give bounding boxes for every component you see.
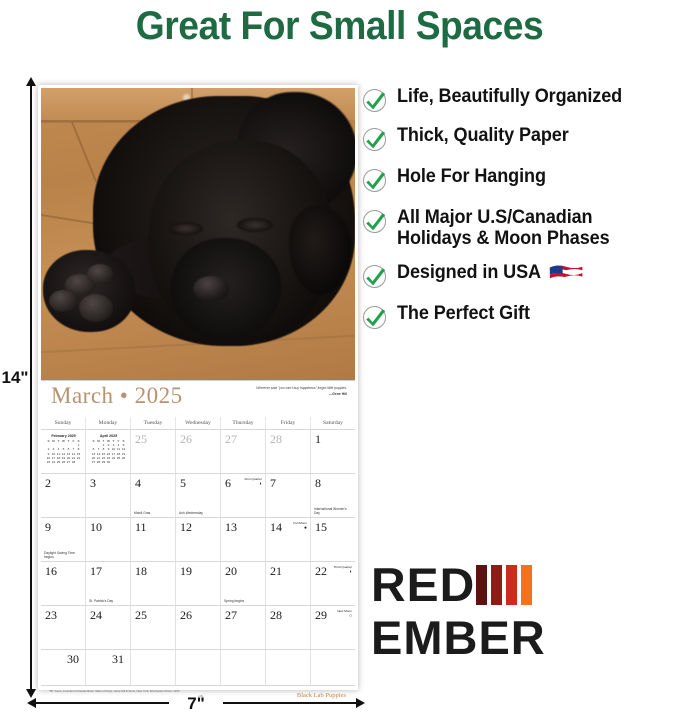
weekday-header: Saturday <box>311 417 355 429</box>
day-number: 16 <box>45 564 57 579</box>
moon-phase-icon: New Moon○ <box>337 609 352 619</box>
calendar-week-row: February 2025SMTWTFS12345678910111213141… <box>41 430 355 474</box>
day-event-label: International Women's Day <box>314 507 353 515</box>
moon-phase-icon: Third Quarter◖ <box>334 565 352 575</box>
calendar-day-cell[interactable] <box>266 650 311 685</box>
day-number: 24 <box>90 608 102 623</box>
check-circle-icon <box>362 167 388 193</box>
calendar-day-cell[interactable]: 20Spring begins <box>221 562 266 605</box>
day-number: 5 <box>180 476 186 491</box>
feature-item: Designed in USA <box>362 262 679 289</box>
calendar-day-cell[interactable]: 27 <box>221 430 266 473</box>
moon-phase-glyph: ○ <box>337 614 352 619</box>
calendar-day-cell[interactable]: 31 <box>86 650 131 685</box>
mini-month: February 2025SMTWTFS12345678910111213141… <box>46 434 81 464</box>
day-number: 21 <box>270 564 282 579</box>
calendar-day-cell[interactable]: April 2025SMTWTFS12345678910111213141516… <box>86 430 131 473</box>
calendar-grid-page: March • 2025 Whoever said "you can't buy… <box>41 380 355 687</box>
calendar-day-cell[interactable]: February 2025SMTWTFS12345678910111213141… <box>41 430 86 473</box>
day-number: 20 <box>225 564 237 579</box>
calendar-day-cell[interactable]: 5Ash Wednesday <box>176 474 221 517</box>
calendar-week-row: 23242526272829New Moon○ <box>41 606 355 650</box>
calendar-month-title: March • 2025 <box>51 383 183 409</box>
logo-line-one: RED <box>371 562 601 608</box>
day-number: 8 <box>315 476 321 491</box>
calendar-day-cell[interactable]: 22Third Quarter◖ <box>311 562 355 605</box>
calendar-day-cell[interactable]: 18 <box>131 562 176 605</box>
calendar-day-cell[interactable]: 4Mardi Gras <box>131 474 176 517</box>
calendar-day-cell[interactable]: 11 <box>131 518 176 561</box>
feature-label: All Major U.S/Canadian Holidays & Moon P… <box>397 207 665 250</box>
calendar-day-cell[interactable]: 12 <box>176 518 221 561</box>
day-number: 7 <box>270 476 276 491</box>
check-circle-icon <box>362 208 388 234</box>
logo-line-two: EMBER <box>371 613 601 663</box>
mini-month: April 2025SMTWTFS12345678910111213141516… <box>91 434 126 464</box>
red-ember-logo: RED EMBER <box>371 562 601 663</box>
day-number: 12 <box>180 520 192 535</box>
puppy-eye-right <box>237 218 273 232</box>
day-number: 14 <box>270 520 282 535</box>
day-number: 3 <box>90 476 96 491</box>
day-number: 22 <box>315 564 327 579</box>
day-number: 27 <box>225 608 237 623</box>
feature-label: Designed in USA <box>397 262 583 284</box>
quote-author: —Gene Hill <box>197 392 347 397</box>
weekday-header: Tuesday <box>131 417 176 429</box>
logo-ember-bars <box>476 565 536 605</box>
calendar-week-row: 9Daylight Saving Time begins1011121314Fu… <box>41 518 355 562</box>
calendar-product: March • 2025 Whoever said "you can't buy… <box>38 85 358 690</box>
calendar-day-cell[interactable]: 30 <box>41 650 86 685</box>
moon-phase-glyph: ◖ <box>334 570 352 575</box>
day-number: 25 <box>135 608 147 623</box>
weekday-header: Wednesday <box>176 417 221 429</box>
calendar-photo <box>41 88 355 380</box>
feature-label: The Perfect Gift <box>397 303 530 324</box>
weekday-header: Thursday <box>221 417 266 429</box>
floor-plank-line <box>41 122 141 123</box>
day-number: 27 <box>225 432 237 447</box>
day-number: 2 <box>45 476 51 491</box>
puppy-nose <box>193 276 229 301</box>
day-number: 6 <box>225 476 231 491</box>
day-number: 17 <box>90 564 102 579</box>
calendar-quote: Whoever said "you can't buy happiness" f… <box>197 386 347 397</box>
calendar-day-cell[interactable]: 26 <box>176 606 221 649</box>
day-number: 29 <box>315 608 327 623</box>
day-number: 28 <box>270 432 282 447</box>
feature-item: All Major U.S/Canadian Holidays & Moon P… <box>362 207 679 250</box>
weekday-header-row: SundayMondayTuesdayWednesdayThursdayFrid… <box>41 417 355 430</box>
calendar-day-cell[interactable]: 1 <box>311 430 355 473</box>
day-event-label: Daylight Saving Time begins <box>44 551 83 559</box>
check-circle-icon <box>362 304 388 330</box>
day-number: 28 <box>270 608 282 623</box>
calendar-day-cell[interactable]: 26 <box>176 430 221 473</box>
calendar-day-cell[interactable]: 29New Moon○ <box>311 606 355 649</box>
calendar-series-title: Black Lab Puppies <box>297 692 346 699</box>
height-dimension-label: 14" <box>0 365 30 391</box>
calendar-day-cell[interactable]: 25 <box>131 430 176 473</box>
calendar-week-row: 1617St. Patrick's Day181920Spring begins… <box>41 562 355 606</box>
calendar-week-row: 234Mardi Gras5Ash Wednesday6First Quarte… <box>41 474 355 518</box>
calendar-day-cell[interactable]: 10 <box>86 518 131 561</box>
moon-phase-icon: Full Moon● <box>293 521 307 531</box>
day-number: 4 <box>135 476 141 491</box>
calendar-day-cell[interactable]: 8International Women's Day <box>311 474 355 517</box>
quote-text: Whoever said "you can't buy happiness" f… <box>256 386 347 390</box>
check-circle-icon <box>362 263 388 289</box>
calendar-day-cell[interactable]: 28 <box>266 606 311 649</box>
height-dimension-arrow <box>30 85 32 690</box>
calendar-day-cell[interactable] <box>221 650 266 685</box>
calendar-day-cell[interactable]: 24 <box>86 606 131 649</box>
day-event-label: Ash Wednesday <box>179 511 218 515</box>
day-event-label: Mardi Gras <box>134 511 173 515</box>
check-circle-icon <box>362 87 388 113</box>
day-number: 13 <box>225 520 237 535</box>
calendar-day-cell[interactable]: 2 <box>41 474 86 517</box>
calendar-day-cell[interactable] <box>176 650 221 685</box>
calendar-day-cell[interactable]: 23 <box>41 606 86 649</box>
calendar-day-cell[interactable]: 17St. Patrick's Day <box>86 562 131 605</box>
calendar-day-cell[interactable] <box>311 650 355 685</box>
mini-month-title: February 2025 <box>46 434 81 438</box>
day-number: 10 <box>90 520 102 535</box>
logo-bar <box>521 565 532 605</box>
day-number: 25 <box>135 432 147 447</box>
calendar-day-cell[interactable] <box>131 650 176 685</box>
logo-text-ember: EMBER <box>371 613 601 663</box>
day-number: 15 <box>315 520 327 535</box>
calendar-day-cell[interactable]: 25 <box>131 606 176 649</box>
day-number: 26 <box>180 432 192 447</box>
puppy-paw-pad <box>79 294 113 322</box>
feature-item: The Perfect Gift <box>362 303 679 330</box>
calendar-weeks: February 2025SMTWTFS12345678910111213141… <box>41 430 355 686</box>
calendar-day-cell[interactable]: 15 <box>311 518 355 561</box>
weekday-header: Friday <box>266 417 311 429</box>
day-number: 23 <box>45 608 57 623</box>
page-title: Great For Small Spaces <box>24 4 655 49</box>
moon-phase-glyph: ◗ <box>245 482 262 487</box>
feature-label: Thick, Quality Paper <box>397 125 569 146</box>
puppy-paw-pad <box>87 264 113 284</box>
calendar-day-cell[interactable]: 7 <box>266 474 311 517</box>
calendar-footer: "Mr. Gene, A Hunter's Fireside Book, Tal… <box>41 686 355 708</box>
feature-item: Thick, Quality Paper <box>362 125 679 152</box>
calendar-day-cell[interactable]: 21 <box>266 562 311 605</box>
day-number: 1 <box>315 432 321 447</box>
weekday-header: Monday <box>86 417 131 429</box>
day-number: 9 <box>45 520 51 535</box>
day-number: 18 <box>135 564 147 579</box>
floor-plank-line <box>71 122 97 182</box>
puppy-paw-pad <box>49 290 77 312</box>
calendar-day-cell[interactable]: 13 <box>221 518 266 561</box>
calendar-day-cell[interactable]: 28 <box>266 430 311 473</box>
calendar-week-row: 3031 <box>41 650 355 686</box>
mini-month-title: April 2025 <box>91 434 126 438</box>
day-number: 31 <box>112 652 124 667</box>
puppy-eye-left <box>169 222 203 235</box>
feature-label: Life, Beautifully Organized <box>397 86 622 107</box>
day-event-label: St. Patrick's Day <box>89 599 128 603</box>
calendar-day-cell[interactable]: 16 <box>41 562 86 605</box>
day-number: 19 <box>180 564 192 579</box>
feature-list: Life, Beautifully OrganizedThick, Qualit… <box>362 86 679 344</box>
weekday-header: Sunday <box>41 417 86 429</box>
check-circle-icon <box>362 126 388 152</box>
calendar-page-number: •48• <box>198 694 203 698</box>
day-number: 11 <box>135 520 147 535</box>
logo-bar <box>476 565 487 605</box>
moon-phase-icon: First Quarter◗ <box>245 477 262 487</box>
product-infographic: Great For Small Spaces 14" 7" <box>0 0 679 716</box>
calendar-day-cell[interactable]: 6First Quarter◗ <box>221 474 266 517</box>
logo-bar <box>491 565 502 605</box>
feature-item: Life, Beautifully Organized <box>362 86 679 113</box>
calendar-fine-print: "Mr. Gene, A Hunter's Fireside Book, Tal… <box>49 689 199 693</box>
day-event-label: Spring begins <box>224 599 263 603</box>
feature-item: Hole For Hanging <box>362 166 679 193</box>
day-number: 26 <box>180 608 192 623</box>
logo-bar <box>506 565 517 605</box>
logo-text-red: RED <box>371 562 475 608</box>
moon-phase-glyph: ● <box>293 526 307 531</box>
calendar-day-cell[interactable]: 19 <box>176 562 221 605</box>
calendar-day-cell[interactable]: 14Full Moon● <box>266 518 311 561</box>
calendar-day-cell[interactable]: 9Daylight Saving Time begins <box>41 518 86 561</box>
feature-label: Hole For Hanging <box>397 166 546 187</box>
calendar-day-cell[interactable]: 27 <box>221 606 266 649</box>
day-number: 30 <box>67 652 79 667</box>
calendar-day-cell[interactable]: 3 <box>86 474 131 517</box>
usa-flag-icon <box>549 262 583 284</box>
calendar-header: March • 2025 Whoever said "you can't buy… <box>41 381 355 417</box>
